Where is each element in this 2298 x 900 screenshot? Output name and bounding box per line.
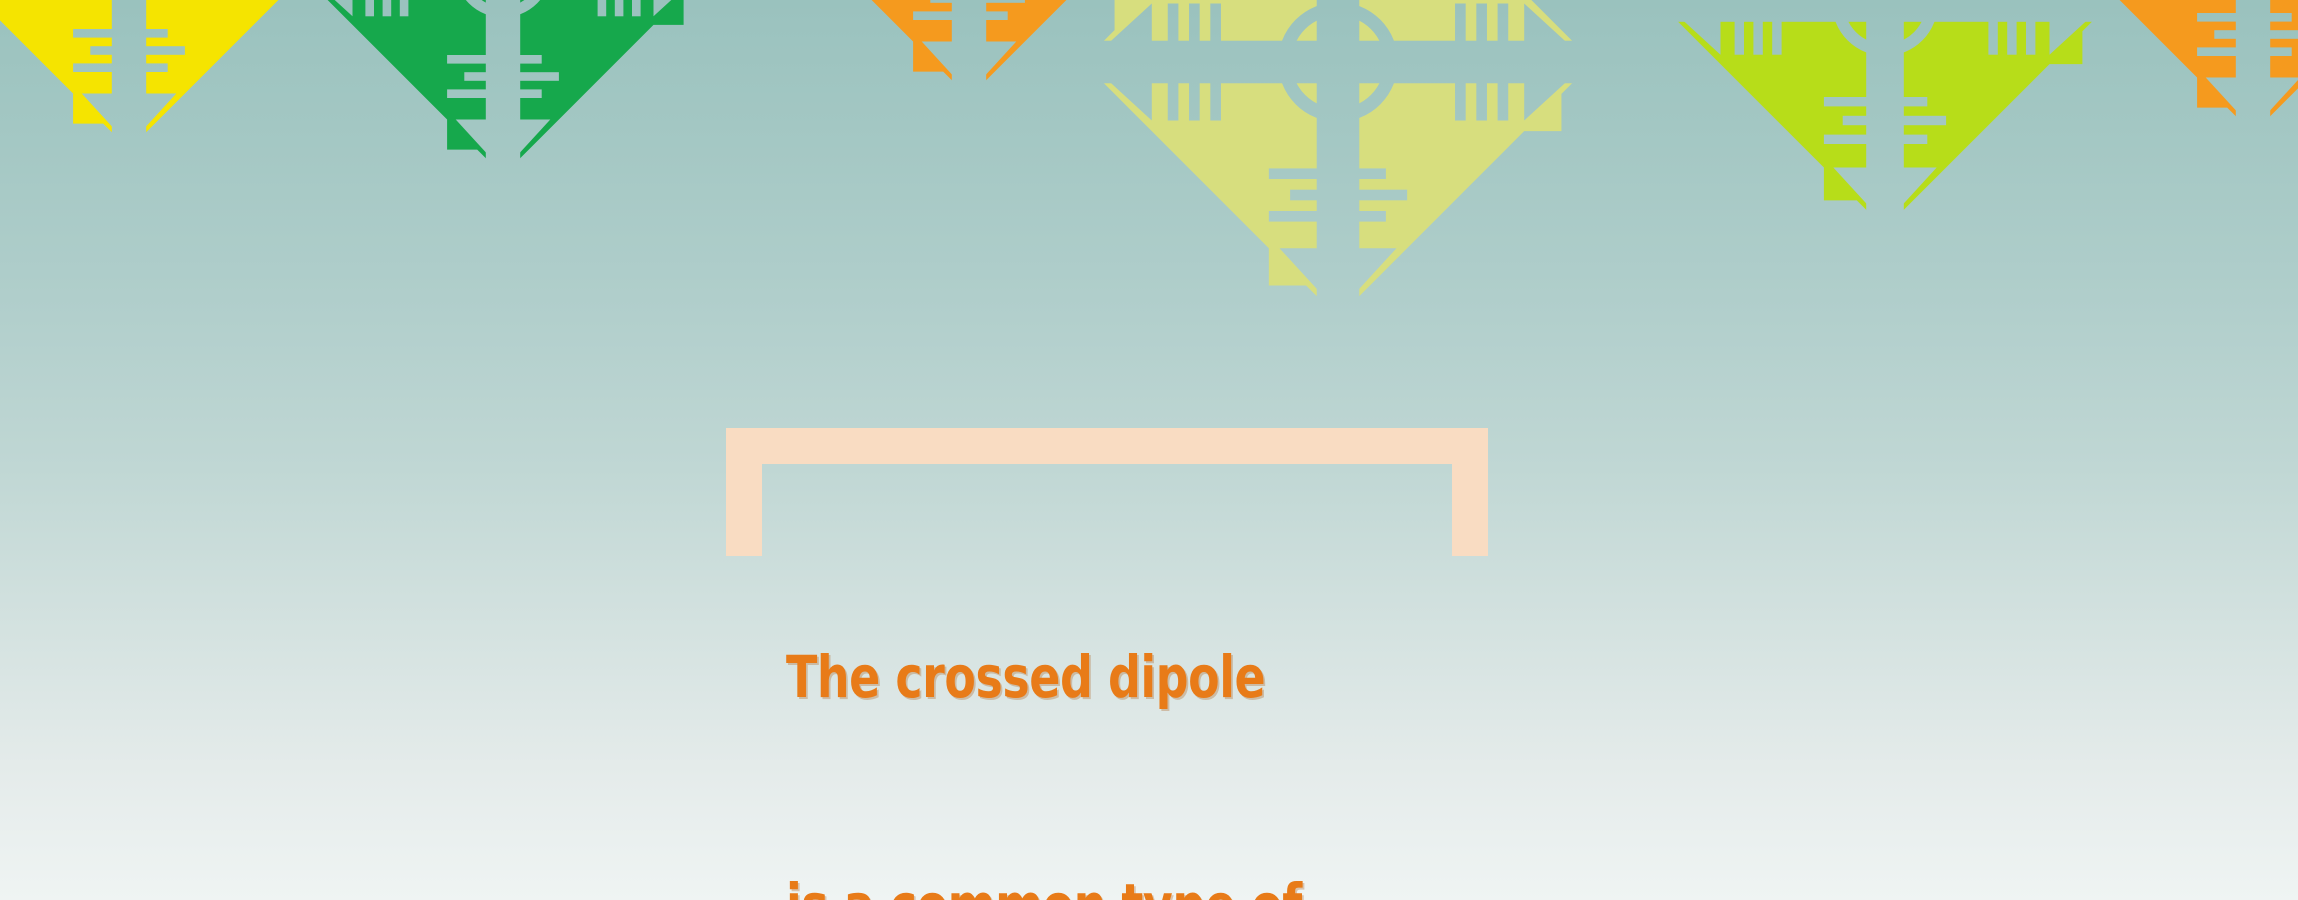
crossed-dipole-antenna-icon — [288, 0, 718, 184]
crossed-dipole-description: The crossed dipole is a common type of m… — [786, 487, 1413, 900]
crossed-dipole-antenna-icon — [1072, 0, 1604, 328]
caption-line-2: is a common type of — [786, 867, 1413, 900]
crossed-dipole-antenna-icon — [2038, 0, 2298, 142]
slide-canvas: The crossed dipole is a common type of m… — [0, 0, 2298, 900]
caption-line-1: The crossed dipole — [786, 639, 1413, 715]
